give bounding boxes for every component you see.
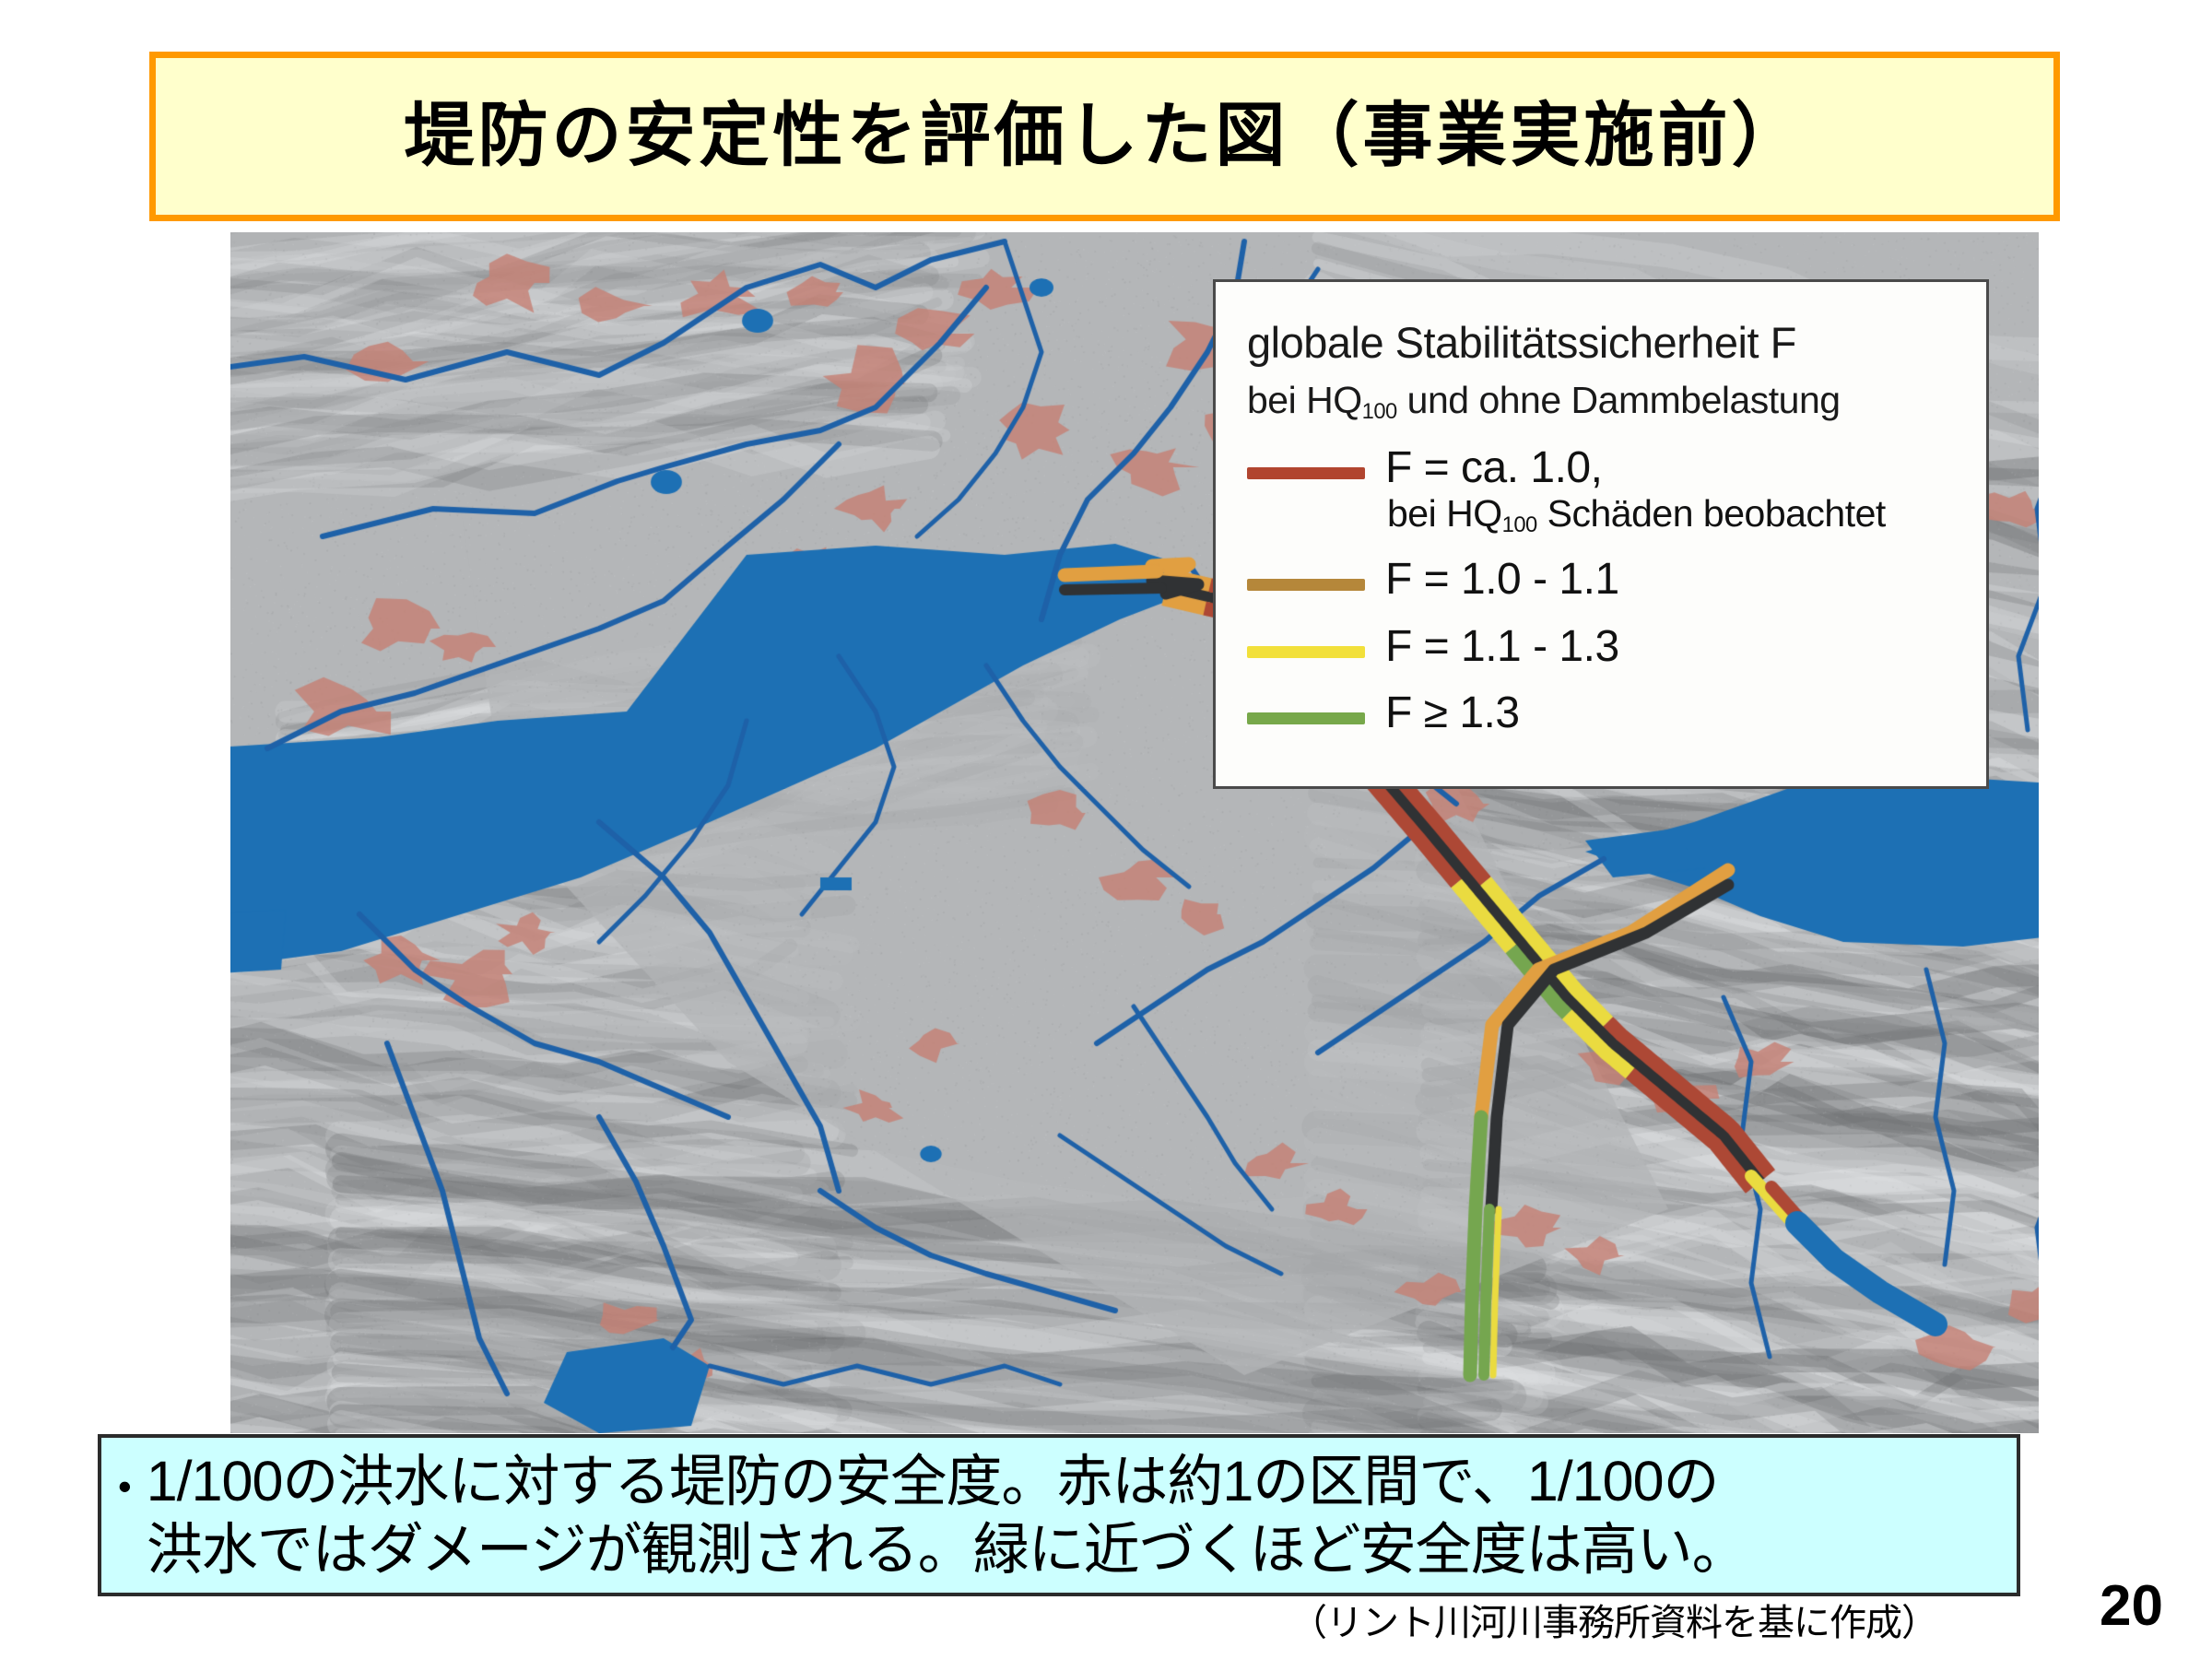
- source-note: （リント川河川事務所資料を基に作成）: [1290, 1593, 1937, 1646]
- caption-line-2: 洪水ではダメージが観測される。緑に近づくほど安全度は高い。: [147, 1515, 1747, 1583]
- slide-title-banner: 堤防の安定性を評価した図（事業実施前）: [149, 52, 2060, 221]
- legend-subtitle-subscript: 100: [1362, 399, 1397, 424]
- legend-item-green: F ≥ 1.3: [1247, 690, 1955, 736]
- legend-sublabel-red-subscript: 100: [1502, 512, 1537, 537]
- legend-subtitle: bei HQ100 und ohne Dammbelastung: [1247, 380, 1955, 421]
- legend-item-orange: F = 1.0 - 1.1: [1247, 557, 1955, 603]
- slide-caption: • 1/100の洪水に対する堤防の安全度。赤は約1の区間で、1/100の 洪水で…: [98, 1434, 2020, 1596]
- caption-bullet: •: [118, 1438, 132, 1506]
- legend-sublabel-red-post: Schäden beobachtet: [1537, 492, 1886, 535]
- legend-swatch-green: [1247, 712, 1365, 724]
- legend-subtitle-pre: bei HQ: [1247, 379, 1362, 421]
- legend-swatch-orange: [1247, 579, 1365, 591]
- legend-item-yellow: F = 1.1 - 1.3: [1247, 624, 1955, 670]
- legend-sublabel-red-pre: bei HQ: [1387, 492, 1502, 535]
- stability-assessment-map: globale Stabilitätssicherheit F bei HQ10…: [230, 232, 2039, 1433]
- legend-item-red: F = ca. 1.0, bei HQ100 Schäden beobachte…: [1247, 445, 1955, 537]
- legend-swatch-red: [1247, 467, 1365, 479]
- page-title: 堤防の安定性を評価した図（事業実施前）: [405, 101, 1806, 171]
- map-legend: globale Stabilitätssicherheit F bei HQ10…: [1213, 279, 1989, 789]
- legend-label-yellow: F = 1.1 - 1.3: [1385, 624, 1619, 670]
- legend-title: globale Stabilitätssicherheit F: [1247, 319, 1955, 367]
- caption-line-1: 1/100の洪水に対する堤防の安全度。赤は約1の区間で、1/100の: [147, 1447, 1747, 1515]
- legend-sublabel-red: bei HQ100 Schäden beobachtet: [1385, 491, 1886, 536]
- legend-label-green: F ≥ 1.3: [1385, 690, 1520, 736]
- legend-subtitle-post: und ohne Dammbelastung: [1397, 379, 1841, 421]
- page-number: 20: [2100, 1578, 2163, 1635]
- legend-label-orange: F = 1.0 - 1.1: [1385, 557, 1619, 603]
- legend-swatch-yellow: [1247, 646, 1365, 658]
- legend-label-red: F = ca. 1.0,: [1385, 445, 1886, 491]
